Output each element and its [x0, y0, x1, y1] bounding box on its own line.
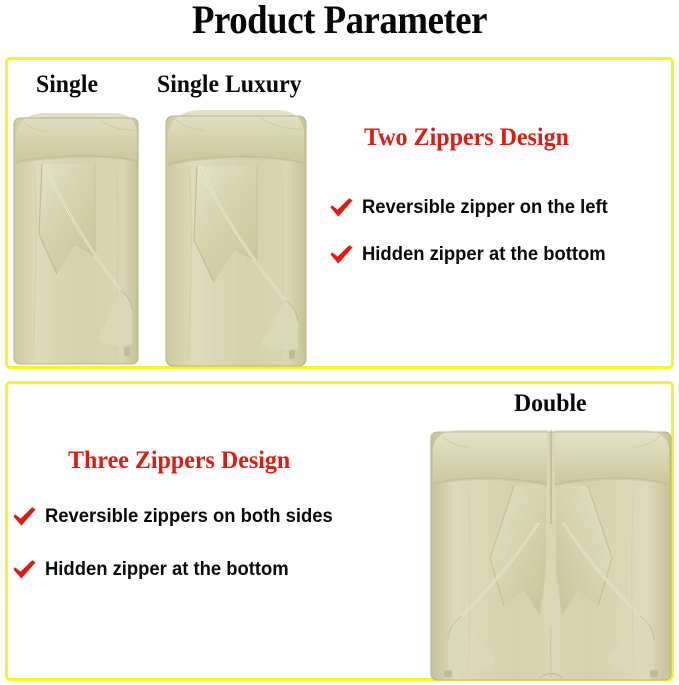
check-icon: [12, 559, 37, 581]
product-label-single: Single: [36, 71, 98, 98]
bullet-reversible-zippers-both-sides: Reversible zippers on both sides: [12, 506, 342, 528]
product-label-single-luxury: Single Luxury: [157, 71, 302, 98]
sleeping-bag-liner-single-image: [12, 104, 140, 366]
bullet-reversible-zipper-left: Reversible zipper on the left: [329, 197, 615, 219]
bullet-label: Reversible zippers on both sides: [45, 506, 333, 528]
sleeping-bag-liner-single-luxury-image: [163, 100, 309, 368]
bullet-label: Reversible zipper on the left: [362, 197, 608, 219]
bullet-hidden-zipper-bottom-top-panel: Hidden zipper at the bottom: [329, 244, 613, 266]
bullet-hidden-zipper-bottom-bottom-panel: Hidden zipper at the bottom: [12, 559, 296, 581]
three-zippers-heading: Three Zippers Design: [68, 447, 290, 475]
two-zippers-heading: Two Zippers Design: [364, 124, 569, 152]
bullet-label: Hidden zipper at the bottom: [45, 559, 289, 581]
bullet-label: Hidden zipper at the bottom: [362, 244, 606, 266]
product-parameter-infographic: Product Parameter: [0, 0, 679, 685]
sleeping-bag-liner-double-image: [428, 420, 674, 682]
check-icon: [12, 506, 37, 528]
product-label-double: Double: [514, 390, 587, 417]
page-title: Product Parameter: [27, 0, 652, 42]
check-icon: [329, 244, 354, 266]
check-icon: [329, 197, 354, 219]
